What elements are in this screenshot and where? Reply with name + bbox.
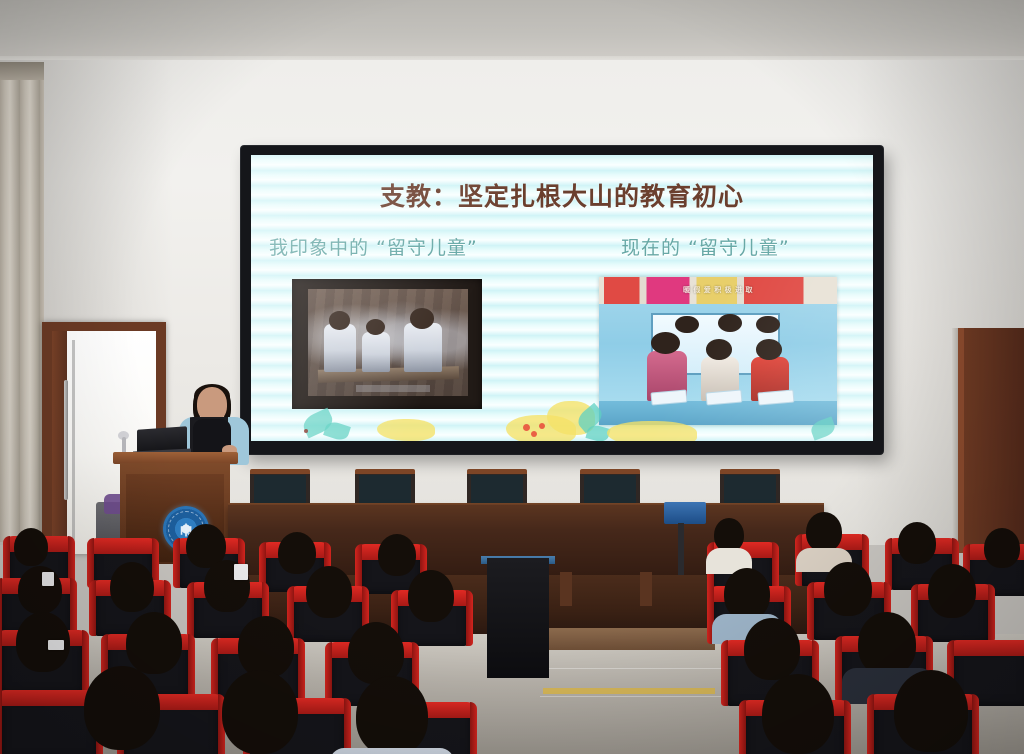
audience-head <box>806 512 842 552</box>
audience-head <box>724 568 770 620</box>
hair-clip <box>48 640 64 650</box>
left-curtain <box>0 62 44 542</box>
audience-head <box>238 616 294 678</box>
audience-head <box>126 612 182 674</box>
hair-clip <box>42 572 54 586</box>
audience-head <box>356 676 428 754</box>
ceiling <box>0 0 1024 58</box>
photo-kid-head <box>675 316 699 334</box>
audience-head <box>306 566 352 618</box>
photo-table <box>599 401 837 425</box>
audience-head <box>762 674 834 754</box>
hair-clip <box>234 564 248 580</box>
presentation-screen[interactable]: 支教：坚定扎根大山的教育初心 我印象中的 “留守儿童” 现在的 “留守儿童” 暖… <box>251 155 873 441</box>
audience-head <box>84 666 160 750</box>
slide-title: 支教：坚定扎根大山的教育初心 <box>251 177 873 213</box>
photo-kid-head <box>718 314 742 332</box>
photo-caption-bar <box>356 385 430 391</box>
photo-banner: 暖 假 爱 积 极 进 取 <box>599 277 837 304</box>
audience-head <box>378 534 416 576</box>
audience-head <box>222 670 298 754</box>
audience-head <box>894 670 968 752</box>
audience-head <box>928 564 976 618</box>
photo-child <box>404 323 442 372</box>
seated-audience <box>0 500 1024 754</box>
photo-child-head <box>410 308 434 328</box>
audience-head <box>858 612 916 676</box>
slide-subtitle-left: 我印象中的 “留守儿童” <box>269 233 478 260</box>
photo-kid-head <box>651 332 680 354</box>
photo-left-rural-children <box>308 289 468 396</box>
audience-head <box>348 622 404 684</box>
audience-head <box>744 618 800 680</box>
audience-head <box>110 562 154 612</box>
curtain-rail <box>0 62 44 80</box>
screen-indicator-dot <box>304 429 308 433</box>
photo-right-children-group: 暖 假 爱 积 极 进 取 <box>599 277 837 425</box>
audience-head <box>278 532 316 574</box>
audience-head <box>14 528 48 566</box>
photo-banner-text: 暖 假 爱 积 极 进 取 <box>599 277 837 304</box>
audience-shoulder <box>330 748 454 754</box>
audience-head <box>824 562 872 616</box>
audience-head <box>984 528 1020 568</box>
audience-head <box>408 570 454 622</box>
audience-head <box>898 522 936 564</box>
photo-kid-head <box>756 316 780 334</box>
lecture-hall-scene: 支教：坚定扎根大山的教育初心 我印象中的 “留守儿童” 现在的 “留守儿童” 暖… <box>0 0 1024 754</box>
slide-subtitle-right: 现在的 “留守儿童” <box>621 233 790 260</box>
audience-head <box>18 566 62 614</box>
photo-child <box>362 332 389 373</box>
photo-child-head <box>329 311 350 329</box>
photo-kid-head <box>706 339 732 360</box>
photo-child <box>324 324 356 372</box>
photo-child-head <box>366 319 385 335</box>
audience-head <box>714 518 744 552</box>
photo-kid-head <box>756 339 782 360</box>
door-handle[interactable] <box>64 380 68 500</box>
